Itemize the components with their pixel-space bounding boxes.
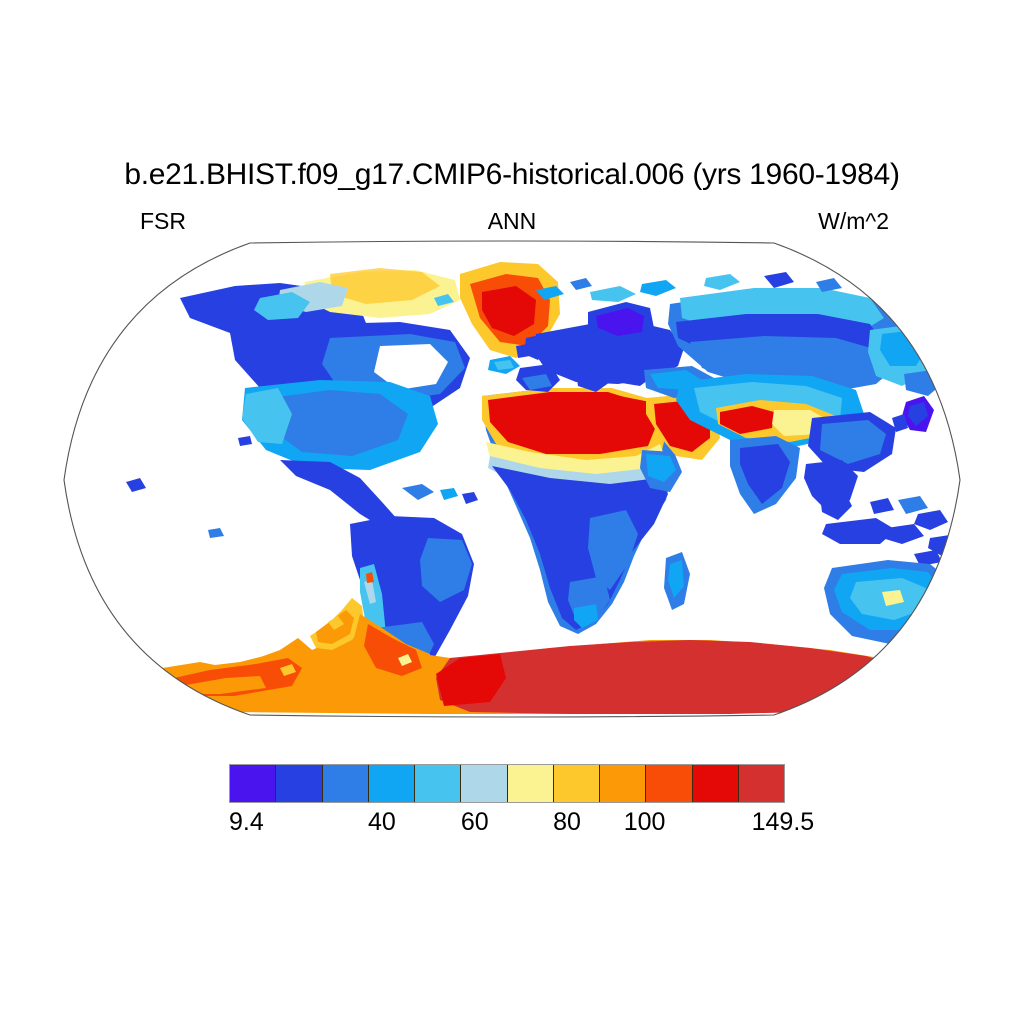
colorbar-label-1: 40 [368, 808, 396, 837]
colorbar-cell-9 [646, 765, 692, 802]
colorbar-cell-3 [369, 765, 415, 802]
colorbar-label-5: 149.5 [752, 808, 815, 837]
colorbar-tick-labels: 9.4406080100149.5 [189, 808, 829, 842]
colorbar-cell-4 [415, 765, 461, 802]
colorbar-cell-11 [739, 765, 784, 802]
colorbar-label-0: 9.4 [229, 808, 264, 837]
colorbar-swatches[interactable] [229, 764, 785, 803]
subtitle-row: FSR ANN W/m^2 [0, 208, 1024, 234]
colorbar-cell-7 [554, 765, 600, 802]
world-map [30, 238, 994, 722]
colorbar-label-3: 80 [553, 808, 581, 837]
colorbar-cell-1 [276, 765, 322, 802]
colorbar-label-2: 60 [461, 808, 489, 837]
page-title: b.e21.BHIST.f09_g17.CMIP6-historical.006… [0, 158, 1024, 192]
colorbar[interactable]: 9.4406080100149.5 [229, 764, 785, 804]
colorbar-cell-6 [508, 765, 554, 802]
map-data-layer [30, 238, 994, 722]
colorbar-label-4: 100 [624, 808, 666, 837]
units-label: W/m^2 [818, 208, 889, 235]
colorbar-cell-5 [461, 765, 507, 802]
colorbar-cell-0 [230, 765, 276, 802]
colorbar-cell-8 [600, 765, 646, 802]
climate-figure: b.e21.BHIST.f09_g17.CMIP6-historical.006… [0, 0, 1024, 1024]
colorbar-cell-10 [693, 765, 739, 802]
map-panel [30, 238, 994, 722]
colorbar-cell-2 [323, 765, 369, 802]
